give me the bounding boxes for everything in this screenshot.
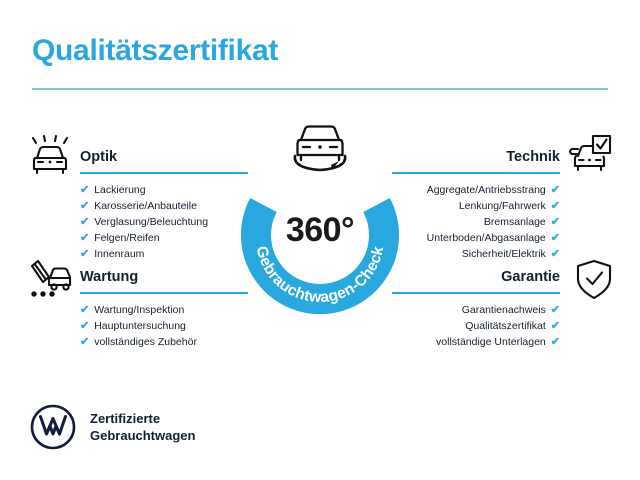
car-checkbox-icon	[566, 132, 614, 176]
list-item: ✔Wartung/Inspektion	[80, 302, 248, 318]
check-icon: ✔	[80, 321, 89, 332]
section-header: Garantie	[392, 268, 560, 294]
section-title: Garantie	[392, 268, 560, 286]
check-icon: ✔	[551, 337, 560, 348]
check-icon: ✔	[551, 217, 560, 228]
list-item-label: Garantienachweis	[462, 302, 546, 318]
checklist: Garantienachweis✔ Qualitätszertifikat✔ v…	[392, 302, 560, 350]
brand-line-2: Gebrauchtwagen	[90, 427, 195, 444]
list-item: Unterboden/Abgasanlage✔	[392, 230, 560, 246]
list-item: Bremsanlage✔	[392, 214, 560, 230]
list-item: ✔Lackierung	[80, 182, 248, 198]
list-item-label: Bremsanlage	[484, 214, 546, 230]
section-header: Technik	[392, 148, 560, 174]
list-item-label: Lackierung	[94, 182, 145, 198]
section-underline	[80, 292, 248, 294]
section-technik: Technik Aggregate/Antriebsstrang✔ Lenkun…	[392, 148, 560, 262]
list-item: ✔Karosserie/Anbauteile	[80, 198, 248, 214]
title-divider	[32, 88, 608, 90]
list-item: ✔Hauptuntersuchung	[80, 318, 248, 334]
wrench-car-icon	[26, 258, 74, 302]
list-item: ✔Innenraum	[80, 246, 248, 262]
check-icon: ✔	[551, 233, 560, 244]
section-title: Optik	[80, 148, 248, 166]
section-header: Wartung	[80, 268, 248, 294]
list-item-label: Verglasung/Beleuchtung	[94, 214, 208, 230]
list-item-label: Innenraum	[94, 246, 144, 262]
section-title: Wartung	[80, 268, 248, 286]
volkswagen-logo-icon	[30, 404, 76, 450]
list-item-label: Karosserie/Anbauteile	[94, 198, 197, 214]
footer-brand: Zertifizierte Gebrauchtwagen	[30, 404, 195, 450]
list-item: Aggregate/Antriebsstrang✔	[392, 182, 560, 198]
certificate-page: Qualitätszertifikat	[0, 0, 640, 480]
check-icon: ✔	[80, 233, 89, 244]
list-item: Qualitätszertifikat✔	[392, 318, 560, 334]
list-item-label: Wartung/Inspektion	[94, 302, 184, 318]
list-item-label: Qualitätszertifikat	[465, 318, 546, 334]
list-item: Garantienachweis✔	[392, 302, 560, 318]
check-icon: ✔	[551, 201, 560, 212]
section-garantie: Garantie Garantienachweis✔ Qualitätszert…	[392, 268, 560, 350]
section-underline	[80, 172, 248, 174]
check-icon: ✔	[551, 185, 560, 196]
section-header: Optik	[80, 148, 248, 174]
check-icon: ✔	[80, 249, 89, 260]
check-icon: ✔	[551, 249, 560, 260]
brand-text: Zertifizierte Gebrauchtwagen	[90, 410, 195, 444]
page-title: Qualitätszertifikat	[32, 34, 278, 68]
list-item-label: Aggregate/Antriebsstrang	[427, 182, 546, 198]
check-icon: ✔	[80, 201, 89, 212]
list-item-label: vollständiges Zubehör	[94, 334, 197, 350]
checklist: Aggregate/Antriebsstrang✔ Lenkung/Fahrwe…	[392, 182, 560, 262]
check-icon: ✔	[80, 305, 89, 316]
section-underline	[392, 292, 560, 294]
brand-line-1: Zertifizierte	[90, 410, 195, 427]
list-item-label: vollständige Unterlagen	[436, 334, 546, 350]
list-item-label: Sicherheit/Elektrik	[462, 246, 546, 262]
checklist: ✔Lackierung ✔Karosserie/Anbauteile ✔Verg…	[80, 182, 248, 262]
check-icon: ✔	[80, 337, 89, 348]
list-item: vollständige Unterlagen✔	[392, 334, 560, 350]
list-item: ✔vollständiges Zubehör	[80, 334, 248, 350]
badge-center-value: 360°	[237, 211, 403, 250]
list-item: ✔Felgen/Reifen	[80, 230, 248, 246]
check-icon: ✔	[80, 217, 89, 228]
car-shine-icon	[26, 134, 74, 178]
section-title: Technik	[392, 148, 560, 166]
list-item-label: Felgen/Reifen	[94, 230, 159, 246]
section-underline	[392, 172, 560, 174]
section-wartung: Wartung ✔Wartung/Inspektion ✔Hauptunters…	[80, 268, 248, 350]
list-item: Sicherheit/Elektrik✔	[392, 246, 560, 262]
section-optik: Optik ✔Lackierung ✔Karosserie/Anbauteile…	[80, 148, 248, 262]
list-item-label: Hauptuntersuchung	[94, 318, 186, 334]
list-item: Lenkung/Fahrwerk✔	[392, 198, 560, 214]
check-icon: ✔	[551, 321, 560, 332]
check-icon: ✔	[551, 305, 560, 316]
car-front-rotate-icon	[275, 118, 365, 180]
check-icon: ✔	[80, 185, 89, 196]
list-item-label: Lenkung/Fahrwerk	[459, 198, 546, 214]
list-item: ✔Verglasung/Beleuchtung	[80, 214, 248, 230]
shield-check-icon	[570, 258, 618, 302]
list-item-label: Unterboden/Abgasanlage	[427, 230, 546, 246]
checklist: ✔Wartung/Inspektion ✔Hauptuntersuchung ✔…	[80, 302, 248, 350]
